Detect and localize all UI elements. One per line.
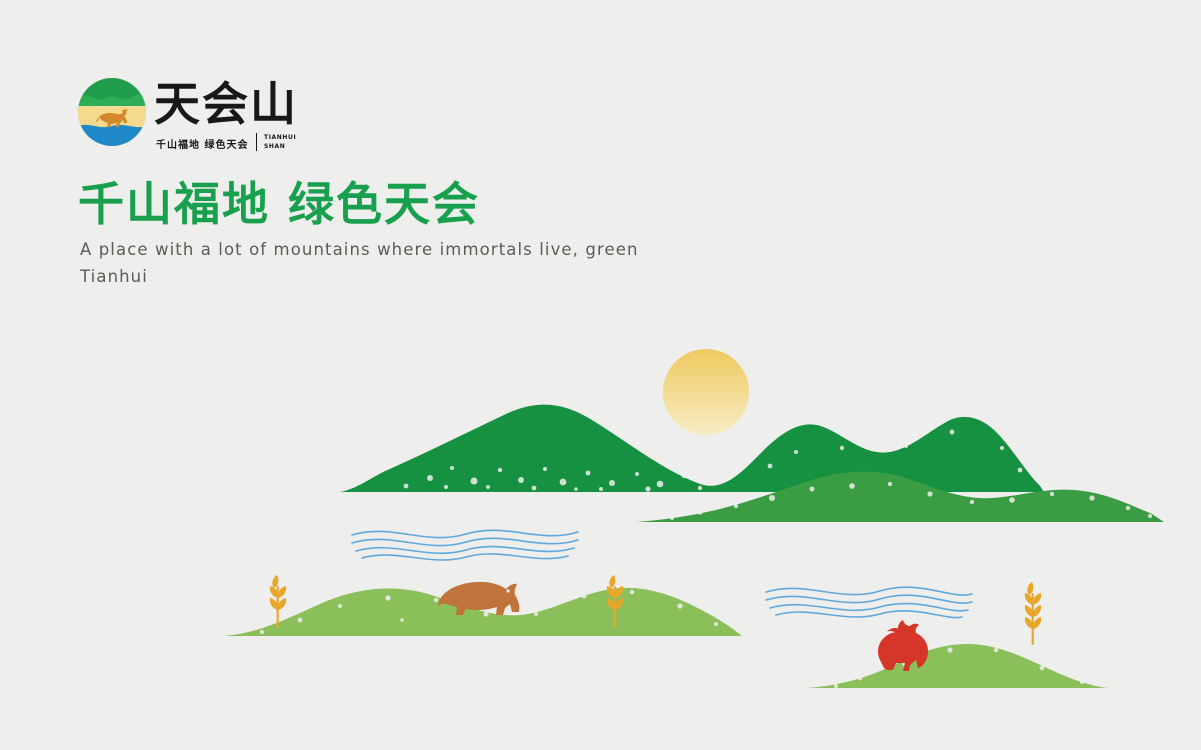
poster-canvas: 天会山 千山福地 绿色天会 TIANHUISHAN 千山福地 绿色天会 A pl… <box>0 0 1201 750</box>
right-hill <box>806 644 1108 688</box>
water-lines-right <box>766 587 972 617</box>
water-lines-left <box>352 530 578 560</box>
right-mountain-range <box>636 472 1164 522</box>
landscape-illustration <box>0 0 1201 750</box>
sun-icon <box>663 349 749 435</box>
wheat-stalk-right <box>1025 582 1041 645</box>
